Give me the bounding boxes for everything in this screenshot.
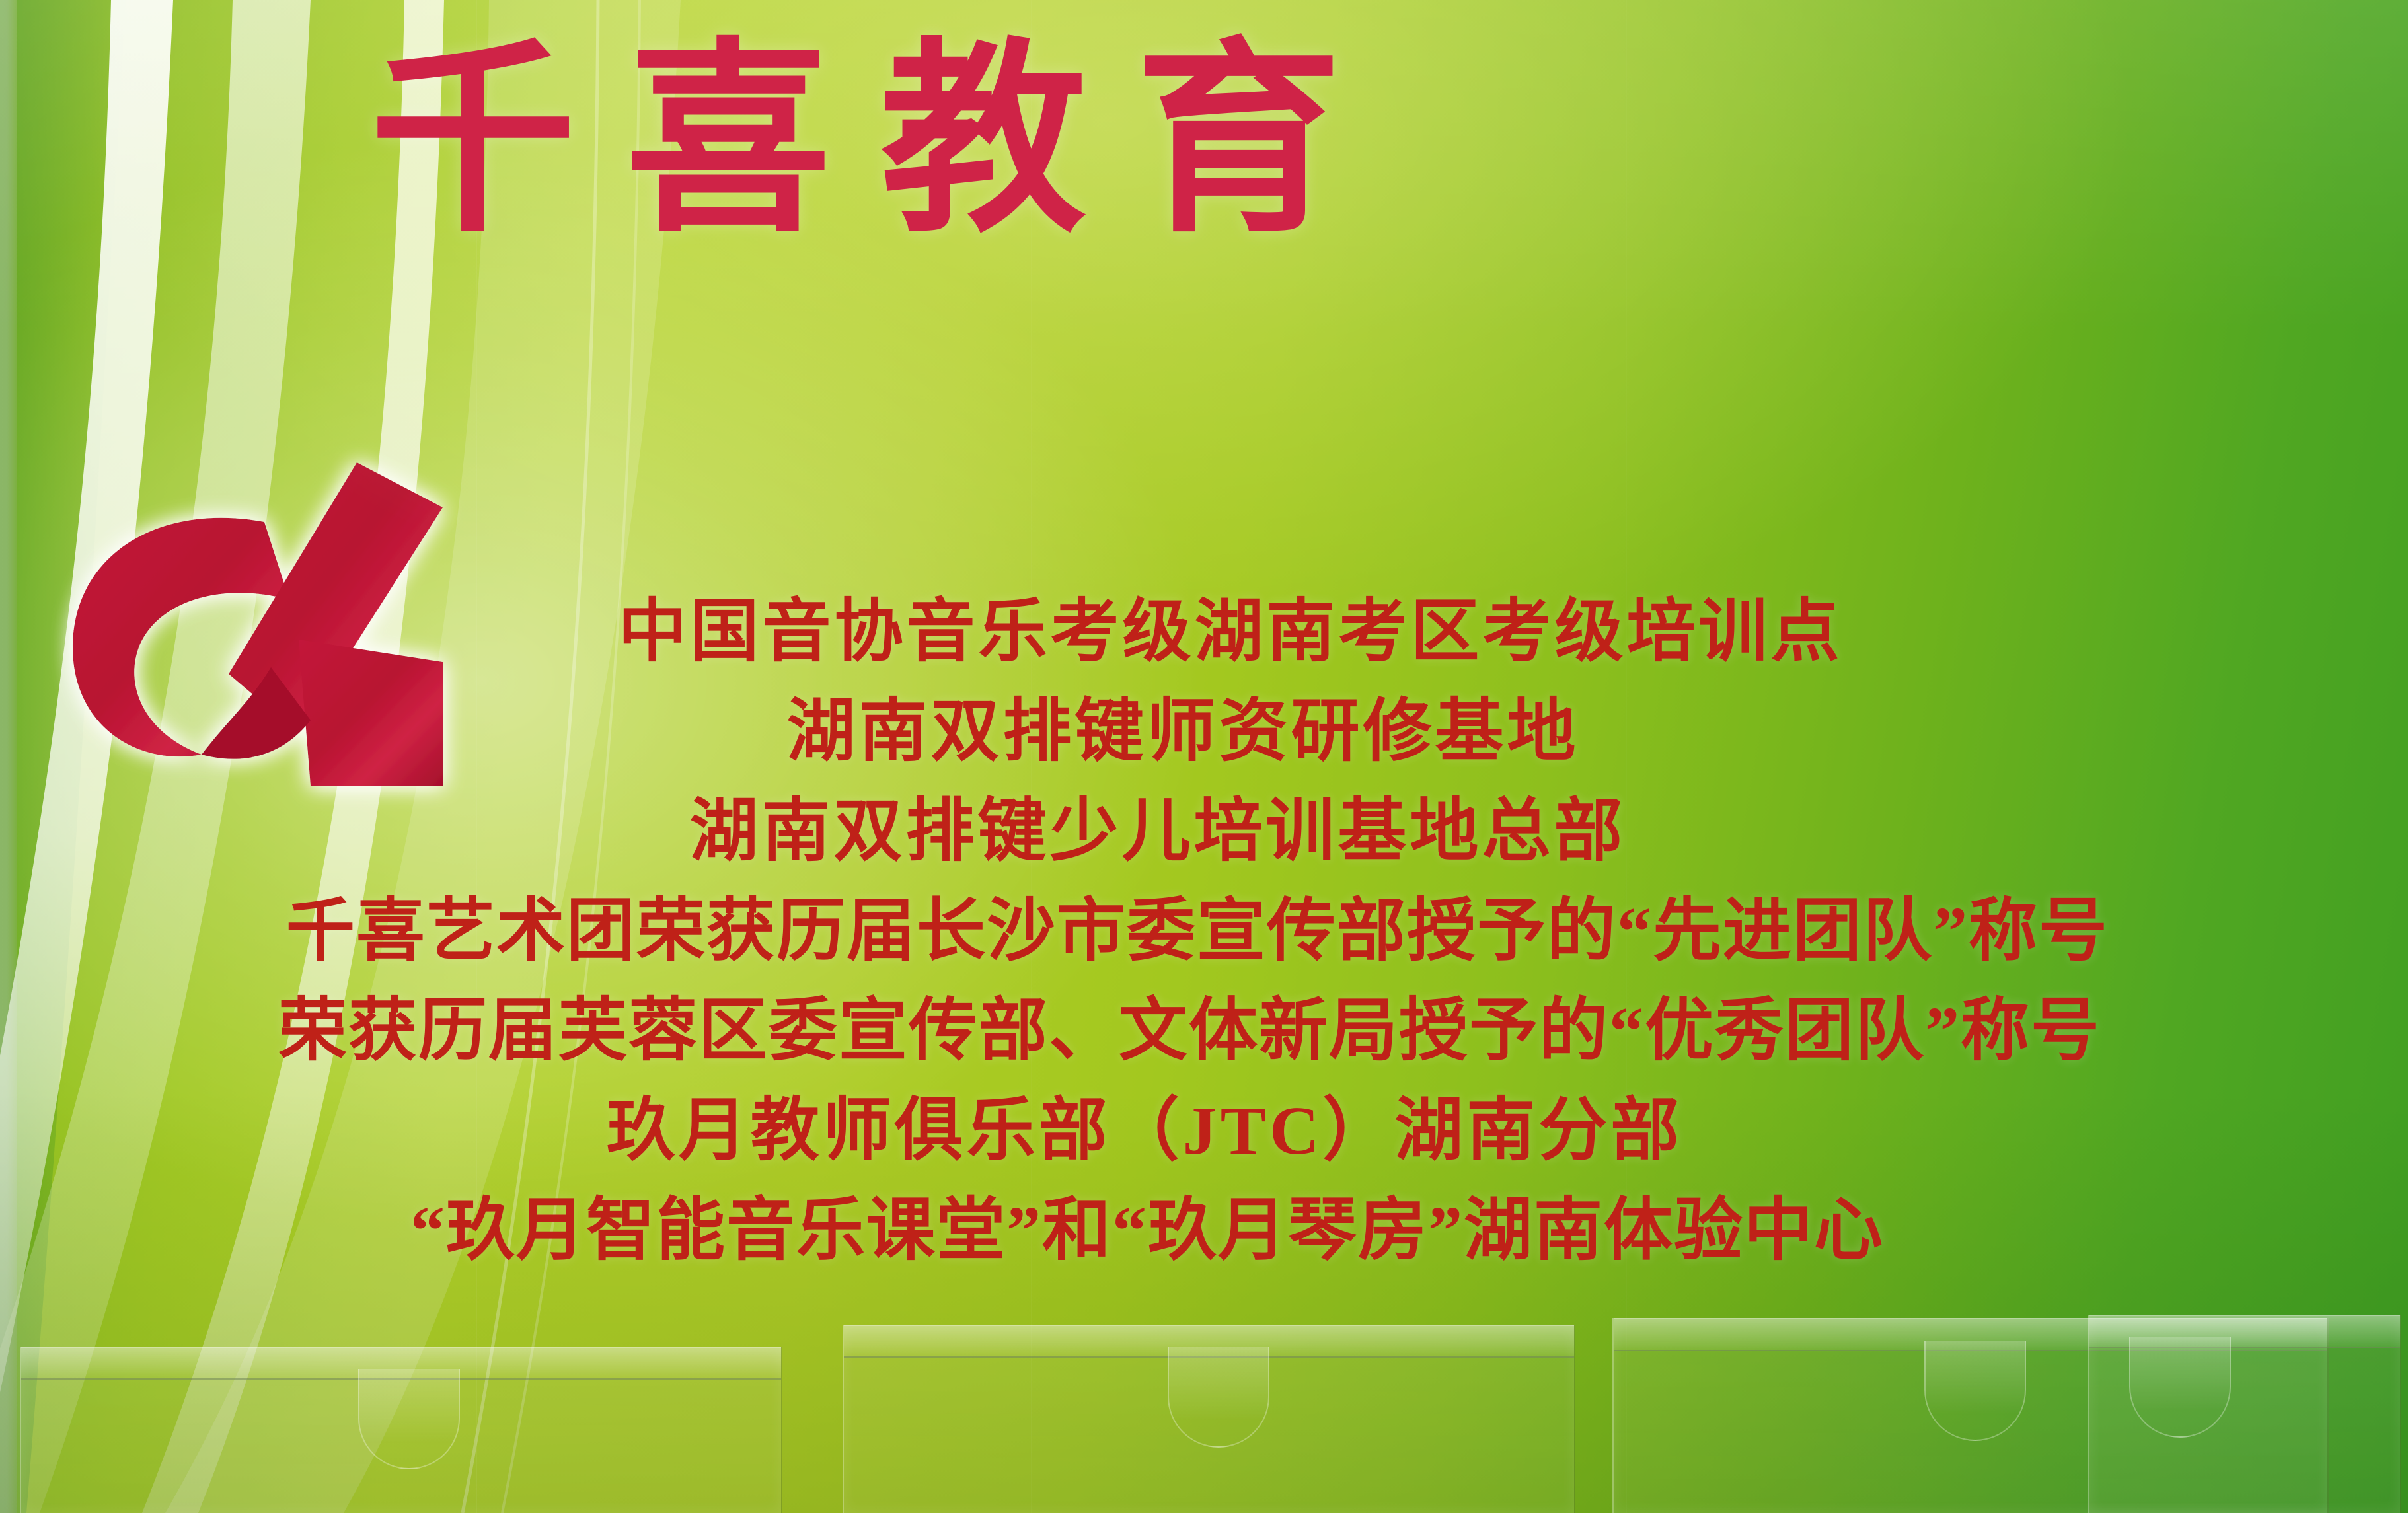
pocket-notch	[1924, 1341, 2026, 1441]
brochure-pocket-2[interactable]	[843, 1325, 1575, 1513]
sign-headline: 千喜教育	[370, 40, 2101, 246]
pocket-notch	[358, 1369, 460, 1469]
credential-line-1: 中国音协音乐考级湖南考区考级培训点	[26, 598, 2408, 667]
credential-line-3: 湖南双排键少儿培训基地总部	[0, 797, 2362, 866]
credential-line-5: 荣获历届芙蓉区委宣传部、文体新局授予的“优秀团队”称号	[0, 997, 2393, 1066]
wall-sign-panel: 千喜教育 中国音协音乐考级湖南考区考级培训点 湖南双排键师资研修基地 湖南双排键…	[0, 0, 2408, 1513]
credential-line-4: 千喜艺术团荣获历届长沙市委宣传部授予的“先进团队”称号	[0, 897, 2401, 966]
brochure-pocket-4[interactable]	[2088, 1315, 2401, 1513]
credential-line-7: “玖月智能音乐课堂”和“玖月琴房”湖南体验中心	[0, 1197, 2351, 1265]
pocket-notch	[2129, 1337, 2231, 1438]
credential-line-2: 湖南双排键师资研修基地	[0, 698, 2387, 766]
brochure-pocket-row	[0, 1315, 2408, 1513]
brochure-pocket-1[interactable]	[20, 1347, 782, 1513]
credential-line-6: 玖月教师俱乐部（JTC）湖南分部	[0, 1097, 2349, 1165]
pocket-notch	[1168, 1347, 1269, 1448]
credential-list: 中国音协音乐考级湖南考区考级培训点 湖南双排键师资研修基地 湖南双排键少儿培训基…	[0, 598, 2408, 1265]
